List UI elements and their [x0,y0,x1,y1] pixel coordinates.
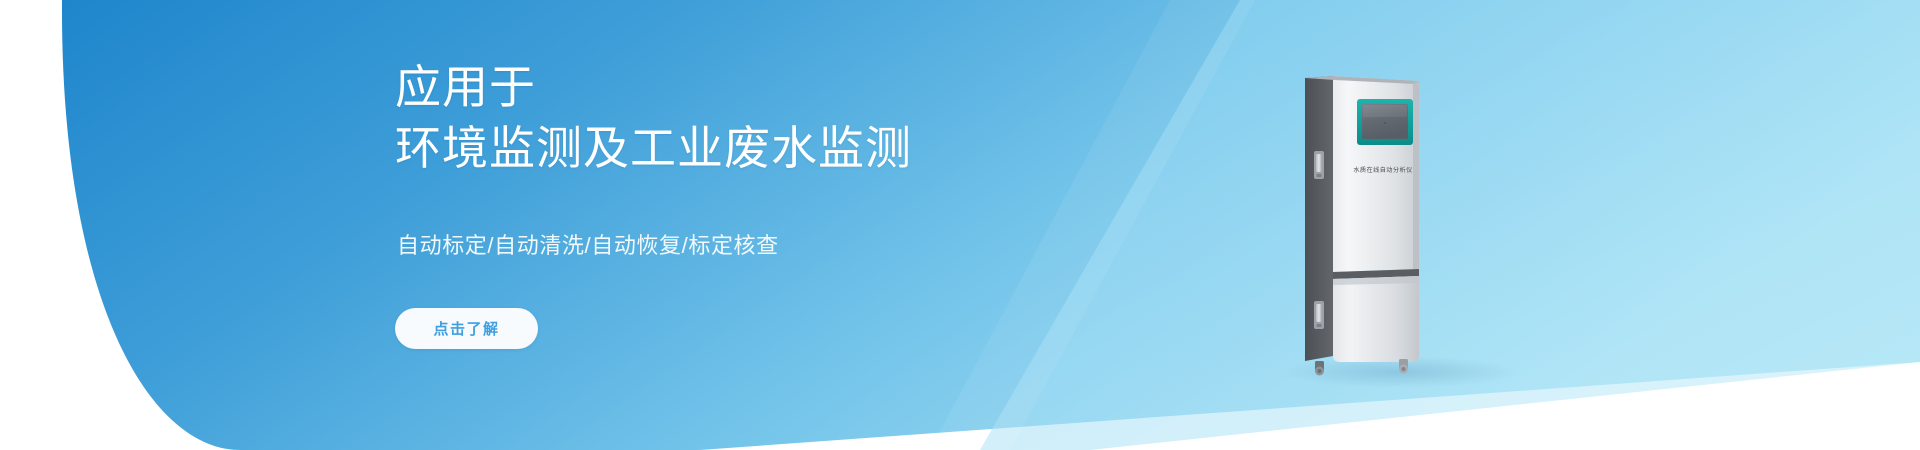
device-upper-handle [1316,154,1322,172]
learn-more-button[interactable]: 点击了解 [395,308,538,349]
banner-subtitle: 自动标定/自动清洗/自动恢复/标定核查 [397,228,779,260]
headline-line-2: 环境监测及工业废水监测 [395,118,912,179]
device-upper-lock [1317,174,1322,177]
banner-content: 应用于 环境监测及工业废水监测 自动标定/自动清洗/自动恢复/标定核查 点击了解 [395,0,1155,450]
device-screen-glare [1363,105,1407,117]
device-model-label: 水质在线自动分析仪 [1341,165,1425,174]
device-lower-front [1333,276,1419,362]
banner-headline: 应用于 环境监测及工业废水监测 [395,57,912,179]
headline-line-1: 应用于 [395,57,912,118]
device-caster-right-hub [1402,367,1406,371]
device-caster-left-hub [1318,369,1322,373]
device-lower-handle [1316,304,1322,322]
device-illustration [1295,73,1431,377]
device-screen-dot [1384,122,1385,123]
device-front-right-edge [1413,81,1419,269]
promo-banner: 水质在线自动分析仪 应用于 环境监测及工业废水监测 自动标定/自动清洗/自动恢复… [0,0,1920,450]
device-lower-lock [1317,324,1322,327]
water-quality-analyzer-device: 水质在线自动分析仪 [1295,73,1431,377]
